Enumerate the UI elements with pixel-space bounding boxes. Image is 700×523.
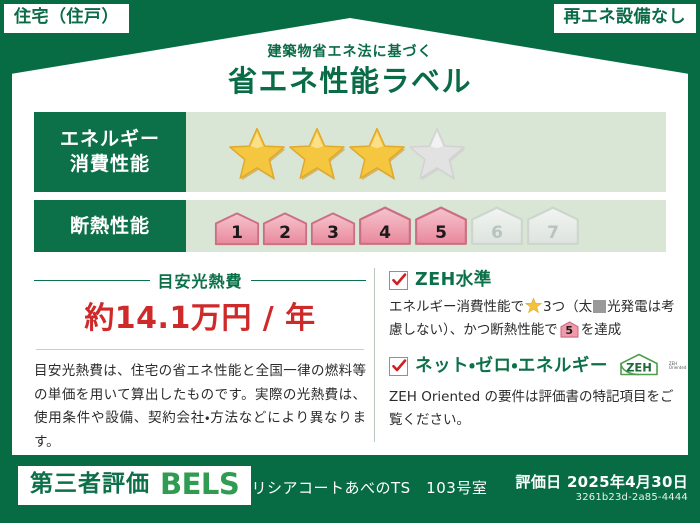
insulation-rank-4: 4 [358, 206, 412, 246]
criteria-zeh-level-header: ZEH水準 [389, 270, 686, 291]
criteria-net-zero-header: ネット・ゼロ・エネルギー ZEH ZEH Oriented [389, 352, 686, 381]
energy-performance-row: エネルギー 消費性能 [34, 112, 666, 192]
insulation-rank-2: 2 [262, 212, 308, 246]
checkbox-checked-icon[interactable] [389, 357, 408, 376]
utility-cost-note: 目安光熱費は、住宅の省エネ性能と全国一律の燃料等の単価を用いて算出したものです。… [34, 360, 366, 455]
criteria-zeh-level-title: ZEH水準 [415, 270, 492, 291]
utility-cost-heading: 目安光熱費 [34, 268, 366, 292]
utility-cost-amount: 約14.1万円 / 年 [34, 302, 366, 335]
criteria-zeh-level: ZEH水準 エネルギー消費性能で3つ（太光発電は考慮しない）、かつ断熱性能で5を… [389, 270, 686, 342]
criteria-text-part1: エネルギー消費性能で [389, 299, 524, 315]
footer-bar: 賃貸・売買のノウハ 第三者評価 BELS トリシアコートあべのTS 103号室 … [0, 455, 700, 523]
insulation-rank-1: 1 [214, 212, 260, 246]
bels-energy-label: 住宅（住戸） 再エネ設備なし 建築物省エネ法に基づく 省エネ性能ラベル エネルギ… [0, 0, 700, 523]
cost-divider [36, 349, 364, 350]
star-filled-icon [228, 124, 286, 180]
insulation-rank-scale: 1234567 [186, 200, 666, 252]
star-empty-icon [408, 124, 466, 180]
label-body-panel: エネルギー 消費性能 断熱性能 1234567 目安光熱費 約14.1万 [12, 100, 688, 455]
criteria-net-zero-title: ネット・ゼロ・エネルギー [415, 356, 608, 377]
criteria-net-zero-body: ZEH Oriented の要件は評価書の特記項目をご覧ください。 [389, 386, 686, 432]
insulation-rank-number: 7 [526, 225, 580, 242]
building-name: トリシアコートあべのTS 103号室 [236, 477, 487, 498]
criteria-net-zero-energy: ネット・ゼロ・エネルギー ZEH ZEH Oriented [389, 352, 686, 432]
svg-text:ZEH: ZEH [626, 360, 652, 374]
evaluation-date: 評価日 2025年4月30日 [516, 471, 688, 492]
insulation-rank-7: 7 [526, 206, 580, 246]
insulation-label-text: 断熱性能 [70, 214, 150, 239]
checkbox-checked-icon[interactable] [389, 271, 408, 290]
house-rank-strip: 1234567 [214, 206, 580, 246]
insulation-rank-number: 1 [214, 225, 260, 242]
star-filled-icon [348, 124, 406, 180]
insulation-rank-5: 5 [414, 206, 468, 246]
inline-star-icon [525, 297, 542, 314]
inline-rank-number: 5 [560, 325, 579, 336]
criteria-section: ZEH水準 エネルギー消費性能で3つ（太光発電は考慮しない）、かつ断熱性能で5を… [389, 266, 686, 444]
energy-label-line2: 消費性能 [70, 152, 150, 177]
insulation-performance-label: 断熱性能 [34, 200, 186, 252]
energy-performance-label: エネルギー 消費性能 [34, 112, 186, 192]
energy-star-rating [186, 112, 666, 192]
utility-cost-heading-text: 目安光熱費 [158, 268, 243, 292]
insulation-rank-number: 4 [358, 225, 412, 242]
redacted-character [593, 300, 606, 313]
utility-cost-section: 目安光熱費 約14.1万円 / 年 目安光熱費は、住宅の省エネ性能と全国一律の燃… [34, 266, 366, 444]
lower-section: 目安光熱費 約14.1万円 / 年 目安光熱費は、住宅の省エネ性能と全国一律の燃… [34, 266, 666, 444]
insulation-rank-number: 6 [470, 225, 524, 242]
insulation-rank-number: 3 [310, 225, 356, 242]
insulation-rank-3: 3 [310, 212, 356, 246]
insulation-rank-number: 5 [414, 225, 468, 242]
insulation-rank-number: 2 [262, 225, 308, 242]
inline-rank-badge: 5 [560, 321, 579, 338]
vertical-divider [374, 268, 375, 442]
building-type-tag: 住宅（住戸） [4, 4, 129, 33]
bels-mark-text: BELS [160, 470, 239, 499]
zeh-logo-sub-line2: Oriented [669, 365, 686, 370]
heading-rule-left [34, 280, 150, 281]
heading-rule-right [251, 280, 367, 281]
energy-label-line1: エネルギー [60, 127, 160, 152]
criteria-text-part2: 3つ（太 [543, 299, 592, 315]
insulation-rank-6: 6 [470, 206, 524, 246]
criteria-zeh-level-body: エネルギー消費性能で3つ（太光発電は考慮しない）、かつ断熱性能で5を達成 [389, 296, 686, 342]
third-party-eval-label: 第三者評価 [30, 473, 150, 496]
bels-badge: 第三者評価 BELS [18, 466, 251, 505]
insulation-performance-row: 断熱性能 1234567 [34, 200, 666, 252]
zeh-logo-sublabel: ZEH Oriented [669, 362, 686, 371]
zeh-logo-icon: ZEH [617, 352, 661, 381]
renewable-equipment-tag: 再エネ設備なし [554, 4, 697, 33]
criteria-text-part4: を達成 [581, 322, 622, 338]
star-filled-icon [288, 124, 346, 180]
evaluation-id: 3261b23d-2a85-4444 [576, 492, 688, 503]
